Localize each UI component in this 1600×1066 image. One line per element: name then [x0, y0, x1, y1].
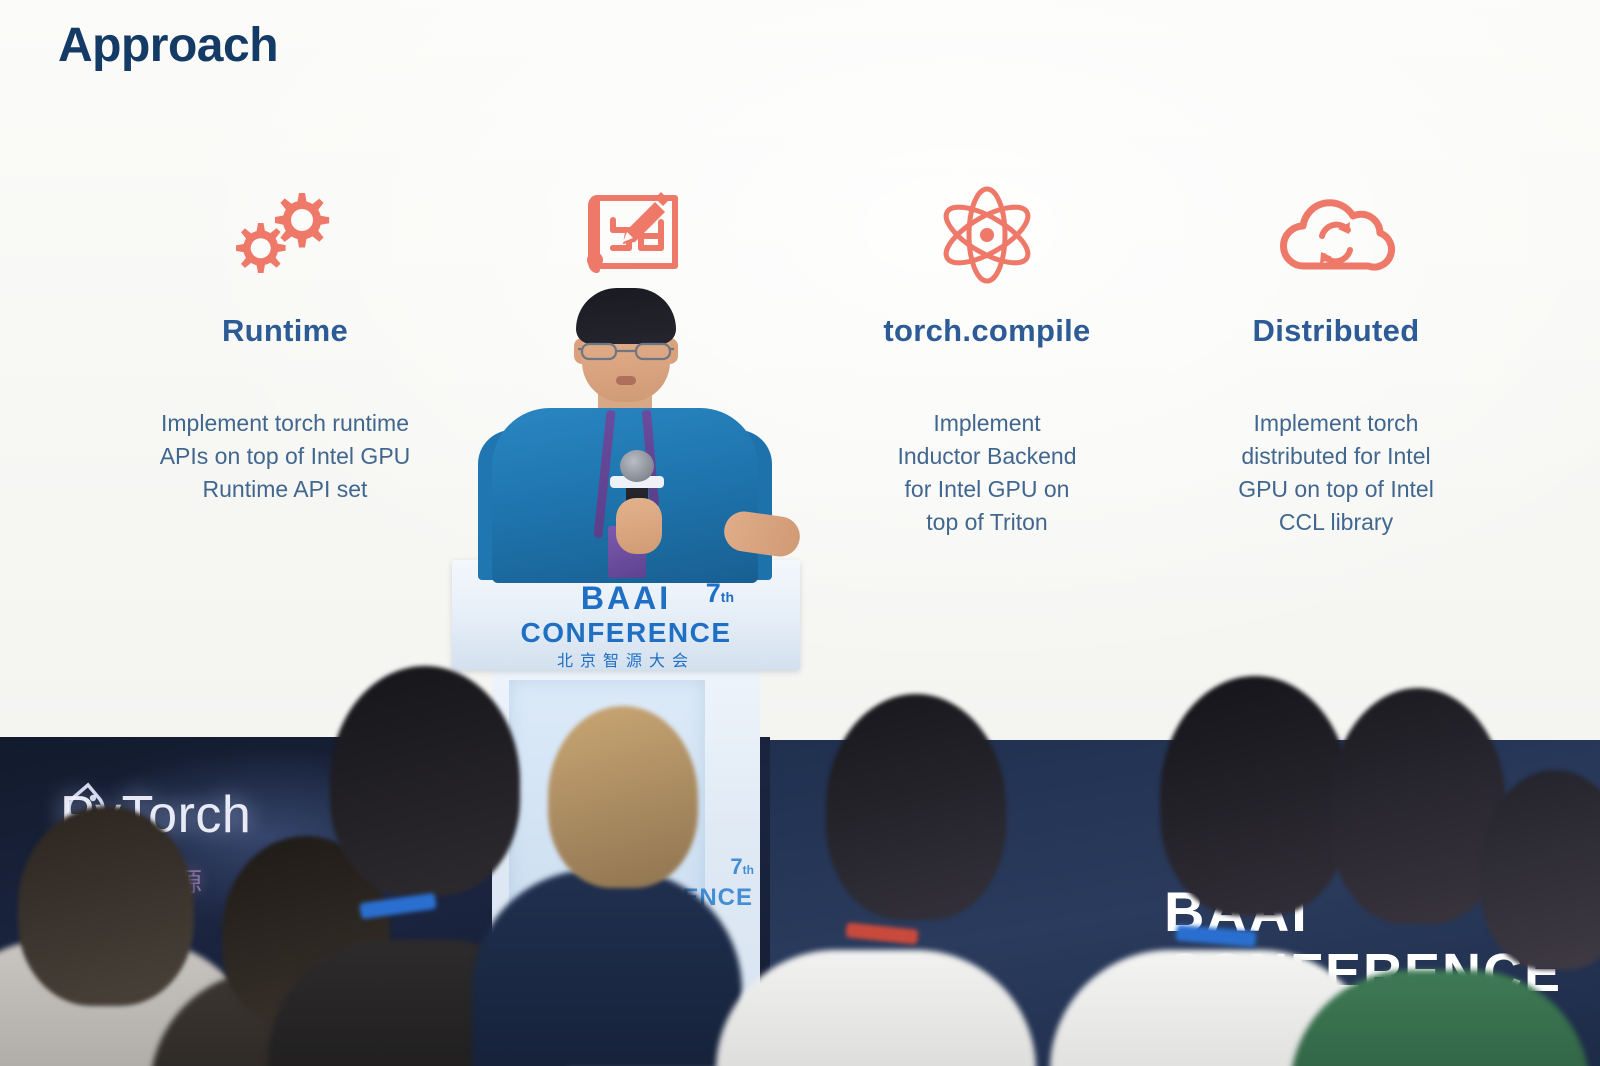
audience-lanyard [1175, 925, 1256, 948]
lectern-edition-badge: 7th [706, 580, 734, 607]
audience-lanyard [845, 922, 918, 944]
column-body: Implement Inductor Backend for Intel GPU… [837, 407, 1137, 539]
column-heading: Runtime [135, 313, 435, 349]
column-body: Implement torch runtime APIs on top of I… [135, 407, 435, 506]
lectern-baai-wordmark: BAAI [581, 582, 671, 614]
column-body: Implement torch distributed for Intel GP… [1186, 407, 1486, 539]
gears-icon [135, 185, 435, 285]
audience-head [330, 666, 520, 896]
speaker-mouth [616, 376, 636, 385]
page-title: Approach [58, 18, 278, 73]
audience-head [18, 806, 194, 1006]
cloud-sync-icon [1186, 185, 1486, 285]
lectern-edition-suffix: th [721, 589, 734, 605]
speaker-hand-holding-mic [616, 498, 662, 554]
audience-head [826, 694, 1006, 920]
eyeglasses-icon [578, 340, 674, 362]
audience-shoulders [472, 870, 742, 1066]
atom-icon [837, 185, 1137, 285]
audience-foreground [0, 640, 1600, 1066]
audience-head [548, 706, 698, 888]
slide-column-runtime: Runtime Implement torch runtime APIs on … [135, 185, 435, 506]
slide-column-torch-compile: torch.compile Implement Inductor Backend… [837, 185, 1137, 539]
microphone-icon [620, 450, 654, 482]
speaker-hair [576, 288, 676, 344]
column-heading: Distributed [1186, 313, 1486, 349]
slide-column-distributed: Distributed Implement torch distributed … [1186, 185, 1486, 539]
audience-shoulders [716, 950, 1036, 1066]
column-heading: torch.compile [837, 313, 1137, 349]
speaker-presenter [470, 280, 780, 580]
audience-head [1160, 676, 1350, 916]
blueprint-pencil-icon [487, 185, 787, 285]
